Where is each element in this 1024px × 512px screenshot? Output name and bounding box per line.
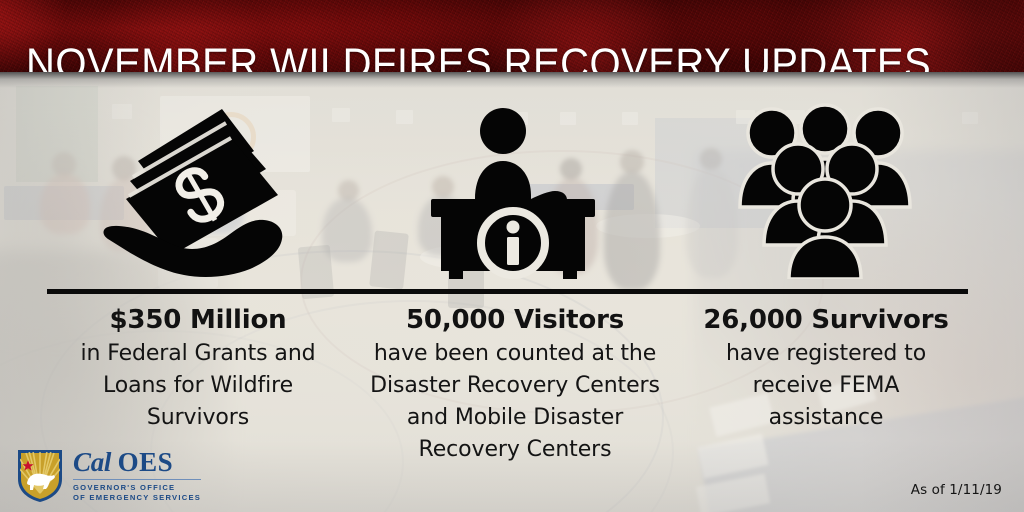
group-of-people-icon (736, 103, 914, 279)
stat-icon-cell (45, 96, 350, 286)
logo-name-secondary: OES (118, 447, 174, 477)
horizontal-divider (47, 289, 968, 294)
logo-tagline-line1: GOVERNOR'S OFFICE (73, 483, 201, 493)
logo-tagline-line2: OF EMERGENCY SERVICES (73, 493, 201, 503)
stat-column-visitors: 50,000 Visitors have been counted at the… (356, 304, 674, 466)
stat-description-line: receive FEMA (676, 370, 976, 402)
stat-description-line: and Mobile Disaster (356, 402, 674, 434)
california-bear-shield-icon (16, 449, 64, 503)
stat-icon-cell (672, 96, 977, 286)
stat-description-line: have been counted at the (356, 338, 674, 370)
as-of-date: As of 1/11/19 (911, 482, 1002, 498)
stat-headline: $350 Million (42, 304, 354, 337)
stat-description-line: Loans for Wildfire (42, 370, 354, 402)
header-banner: NOVEMBER WILDFIRES RECOVERY UPDATES (0, 0, 1024, 72)
infographic-canvas: NOVEMBER WILDFIRES RECOVERY UPDATES (0, 0, 1024, 512)
stat-column-federal-grants: $350 Million in Federal Grants and Loans… (42, 304, 354, 434)
stat-column-survivors: 26,000 Survivors have registered to rece… (676, 304, 976, 434)
money-in-hand-icon (100, 103, 296, 279)
stat-headline: 50,000 Visitors (356, 304, 674, 337)
logo-name-primary: Cal (73, 447, 111, 477)
stat-description-line: assistance (676, 402, 976, 434)
logo-wordmark: Cal OES (73, 449, 201, 476)
stat-description-line: Survivors (42, 402, 354, 434)
stat-headline: 26,000 Survivors (676, 304, 976, 337)
stat-description-line: Disaster Recovery Centers (356, 370, 674, 402)
stat-description-line: Recovery Centers (356, 434, 674, 466)
stat-icon-cell (360, 96, 665, 286)
stat-description-line: have registered to (676, 338, 976, 370)
cal-oes-logo: Cal OES GOVERNOR'S OFFICE OF EMERGENCY S… (16, 449, 201, 503)
information-desk-icon (425, 103, 601, 279)
page-title: NOVEMBER WILDFIRES RECOVERY UPDATES (26, 29, 931, 72)
stat-description-line: in Federal Grants and (42, 338, 354, 370)
logo-wordmark-group: Cal OES GOVERNOR'S OFFICE OF EMERGENCY S… (73, 449, 201, 503)
logo-rule (73, 479, 201, 480)
icons-row (0, 96, 1024, 286)
